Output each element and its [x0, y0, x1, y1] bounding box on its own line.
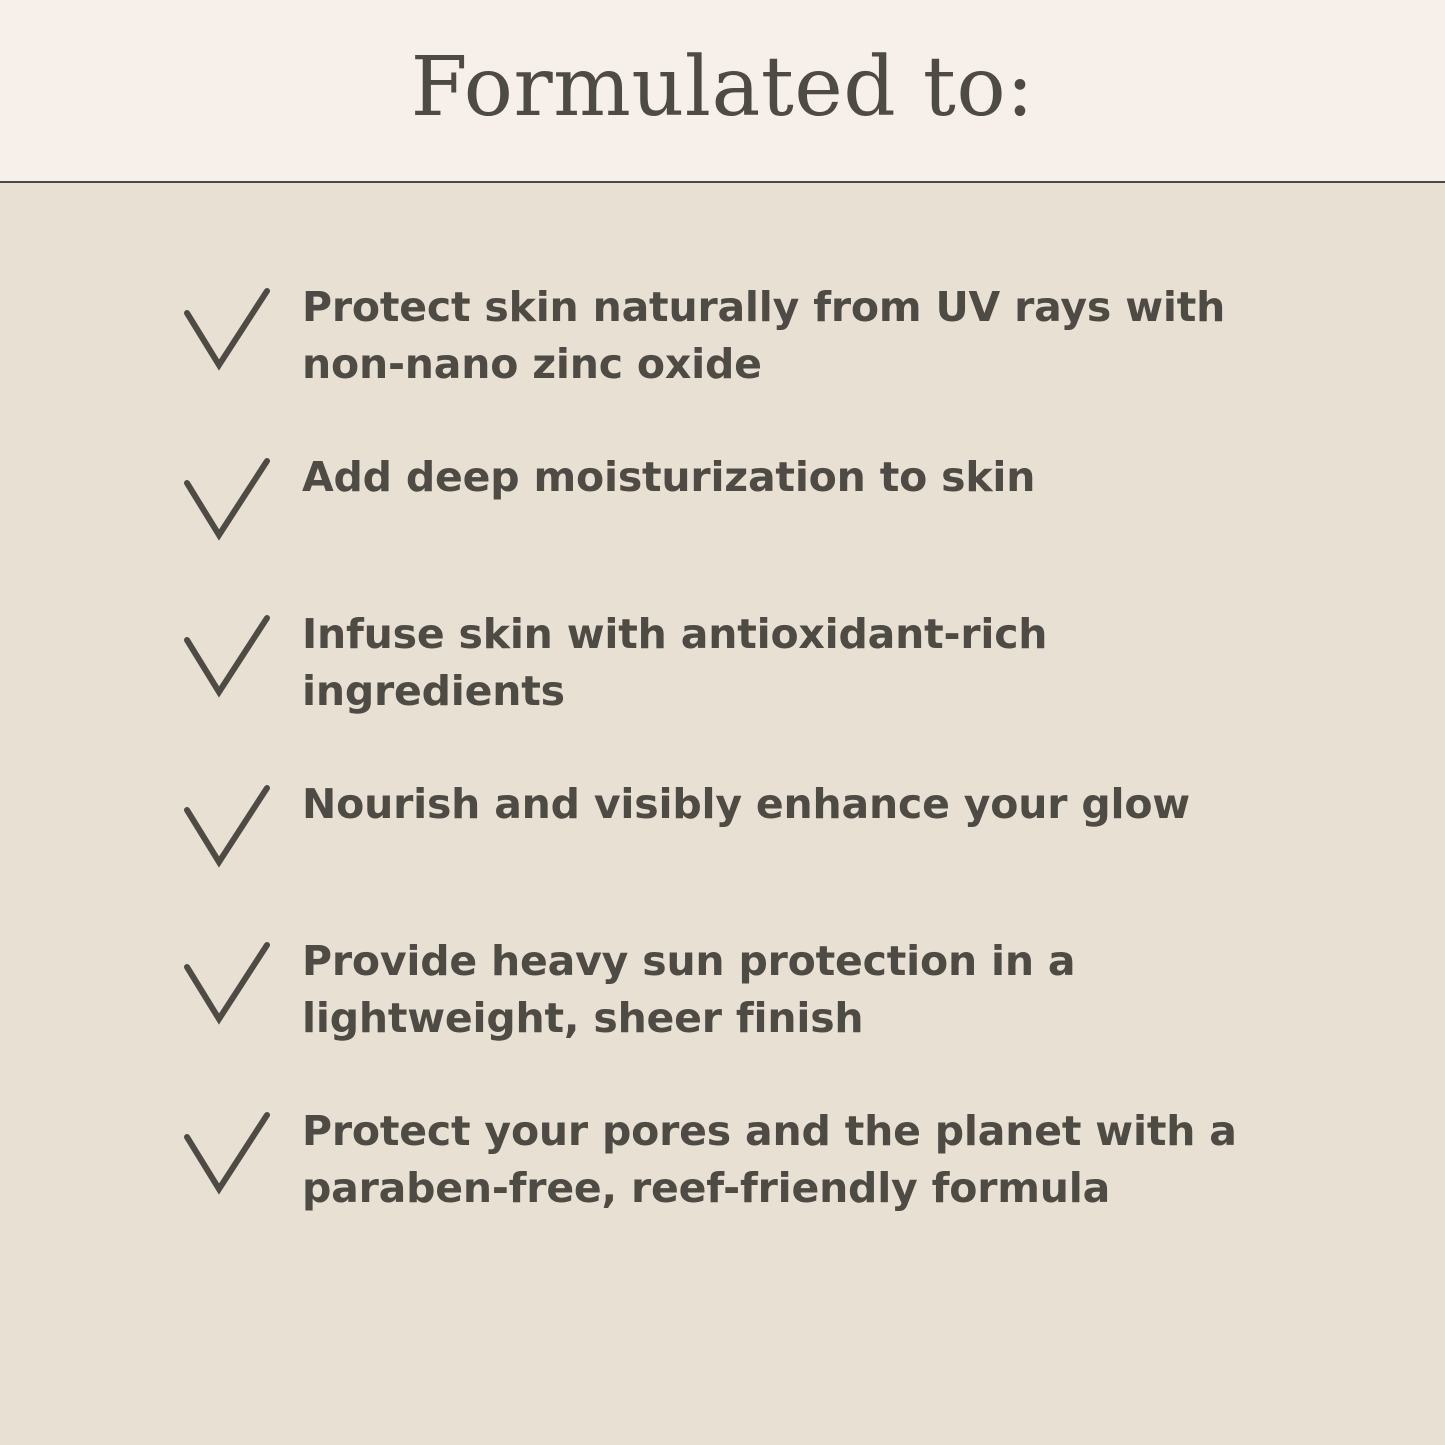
- list-item-label: Infuse skin with antioxidant-rich ingred…: [302, 606, 1312, 719]
- list-item-label: Add deep moisturization to skin: [302, 449, 1035, 506]
- list-item: Nourish and visibly enhance your glow: [152, 776, 1315, 876]
- list-item: Protect your pores and the planet with a…: [152, 1103, 1315, 1216]
- list-item: Add deep moisturization to skin: [152, 449, 1315, 549]
- check-icon: [152, 449, 302, 549]
- check-icon: [152, 933, 302, 1033]
- page-header: Formulated to:: [0, 0, 1445, 183]
- check-icon: [152, 606, 302, 706]
- check-icon: [152, 776, 302, 876]
- check-icon: [152, 279, 302, 379]
- benefits-list: Protect skin naturally from UV rays with…: [0, 183, 1445, 1445]
- benefits-page: Formulated to: Protect skin naturally fr…: [0, 0, 1445, 1445]
- list-item: Infuse skin with antioxidant-rich ingred…: [152, 606, 1315, 719]
- list-item-label: Protect skin naturally from UV rays with…: [302, 279, 1312, 392]
- list-item-label: Provide heavy sun protection in a lightw…: [302, 933, 1312, 1046]
- list-item-label: Nourish and visibly enhance your glow: [302, 776, 1190, 833]
- list-item-label: Protect your pores and the planet with a…: [302, 1103, 1312, 1216]
- list-item: Provide heavy sun protection in a lightw…: [152, 933, 1315, 1046]
- check-icon: [152, 1103, 302, 1203]
- page-title: Formulated to:: [411, 47, 1035, 135]
- list-item: Protect skin naturally from UV rays with…: [152, 279, 1315, 392]
